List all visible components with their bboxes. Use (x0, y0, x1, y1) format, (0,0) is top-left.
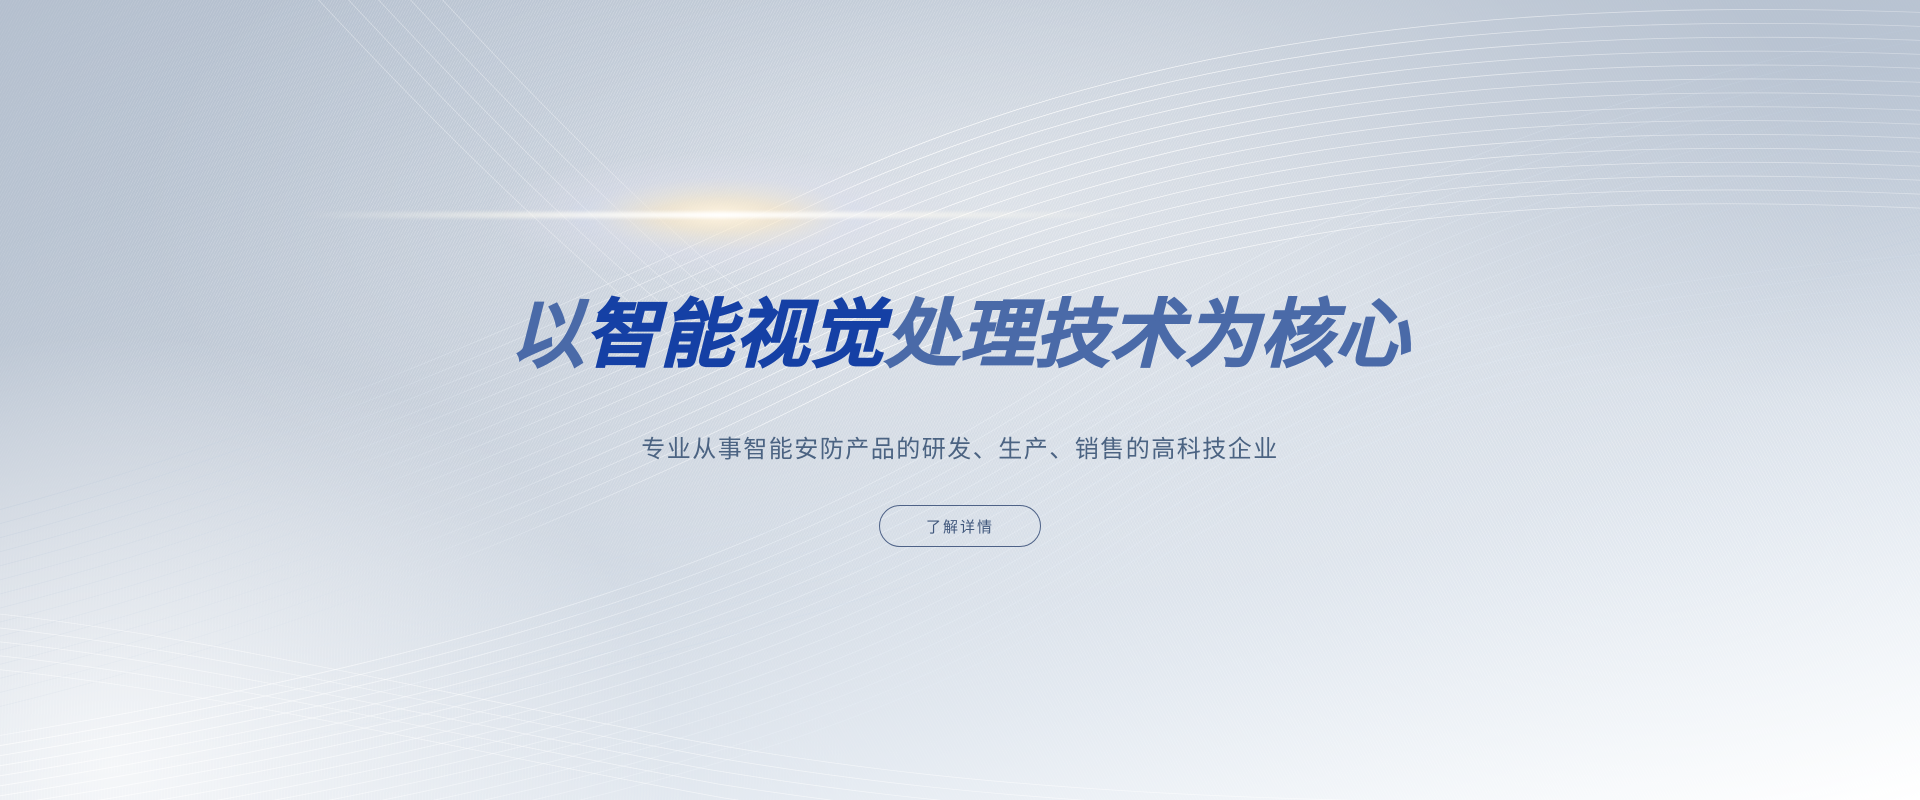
headline-segment-1: 以 (510, 293, 585, 376)
hero-content: 以智能视觉处理技术为核心 专业从事智能安防产品的研发、生产、销售的高科技企业 了… (0, 0, 1920, 800)
headline-segment-3: 处理技术为核心 (885, 293, 1410, 376)
learn-more-button[interactable]: 了解详情 (879, 505, 1041, 547)
headline-segment-2: 智能视觉 (585, 293, 885, 376)
hero-banner: 以智能视觉处理技术为核心 专业从事智能安防产品的研发、生产、销售的高科技企业 了… (0, 0, 1920, 800)
page-title: 以智能视觉处理技术为核心 (0, 298, 1920, 372)
hero-subtitle: 专业从事智能安防产品的研发、生产、销售的高科技企业 (0, 429, 1920, 464)
cta-container: 了解详情 (0, 505, 1920, 547)
